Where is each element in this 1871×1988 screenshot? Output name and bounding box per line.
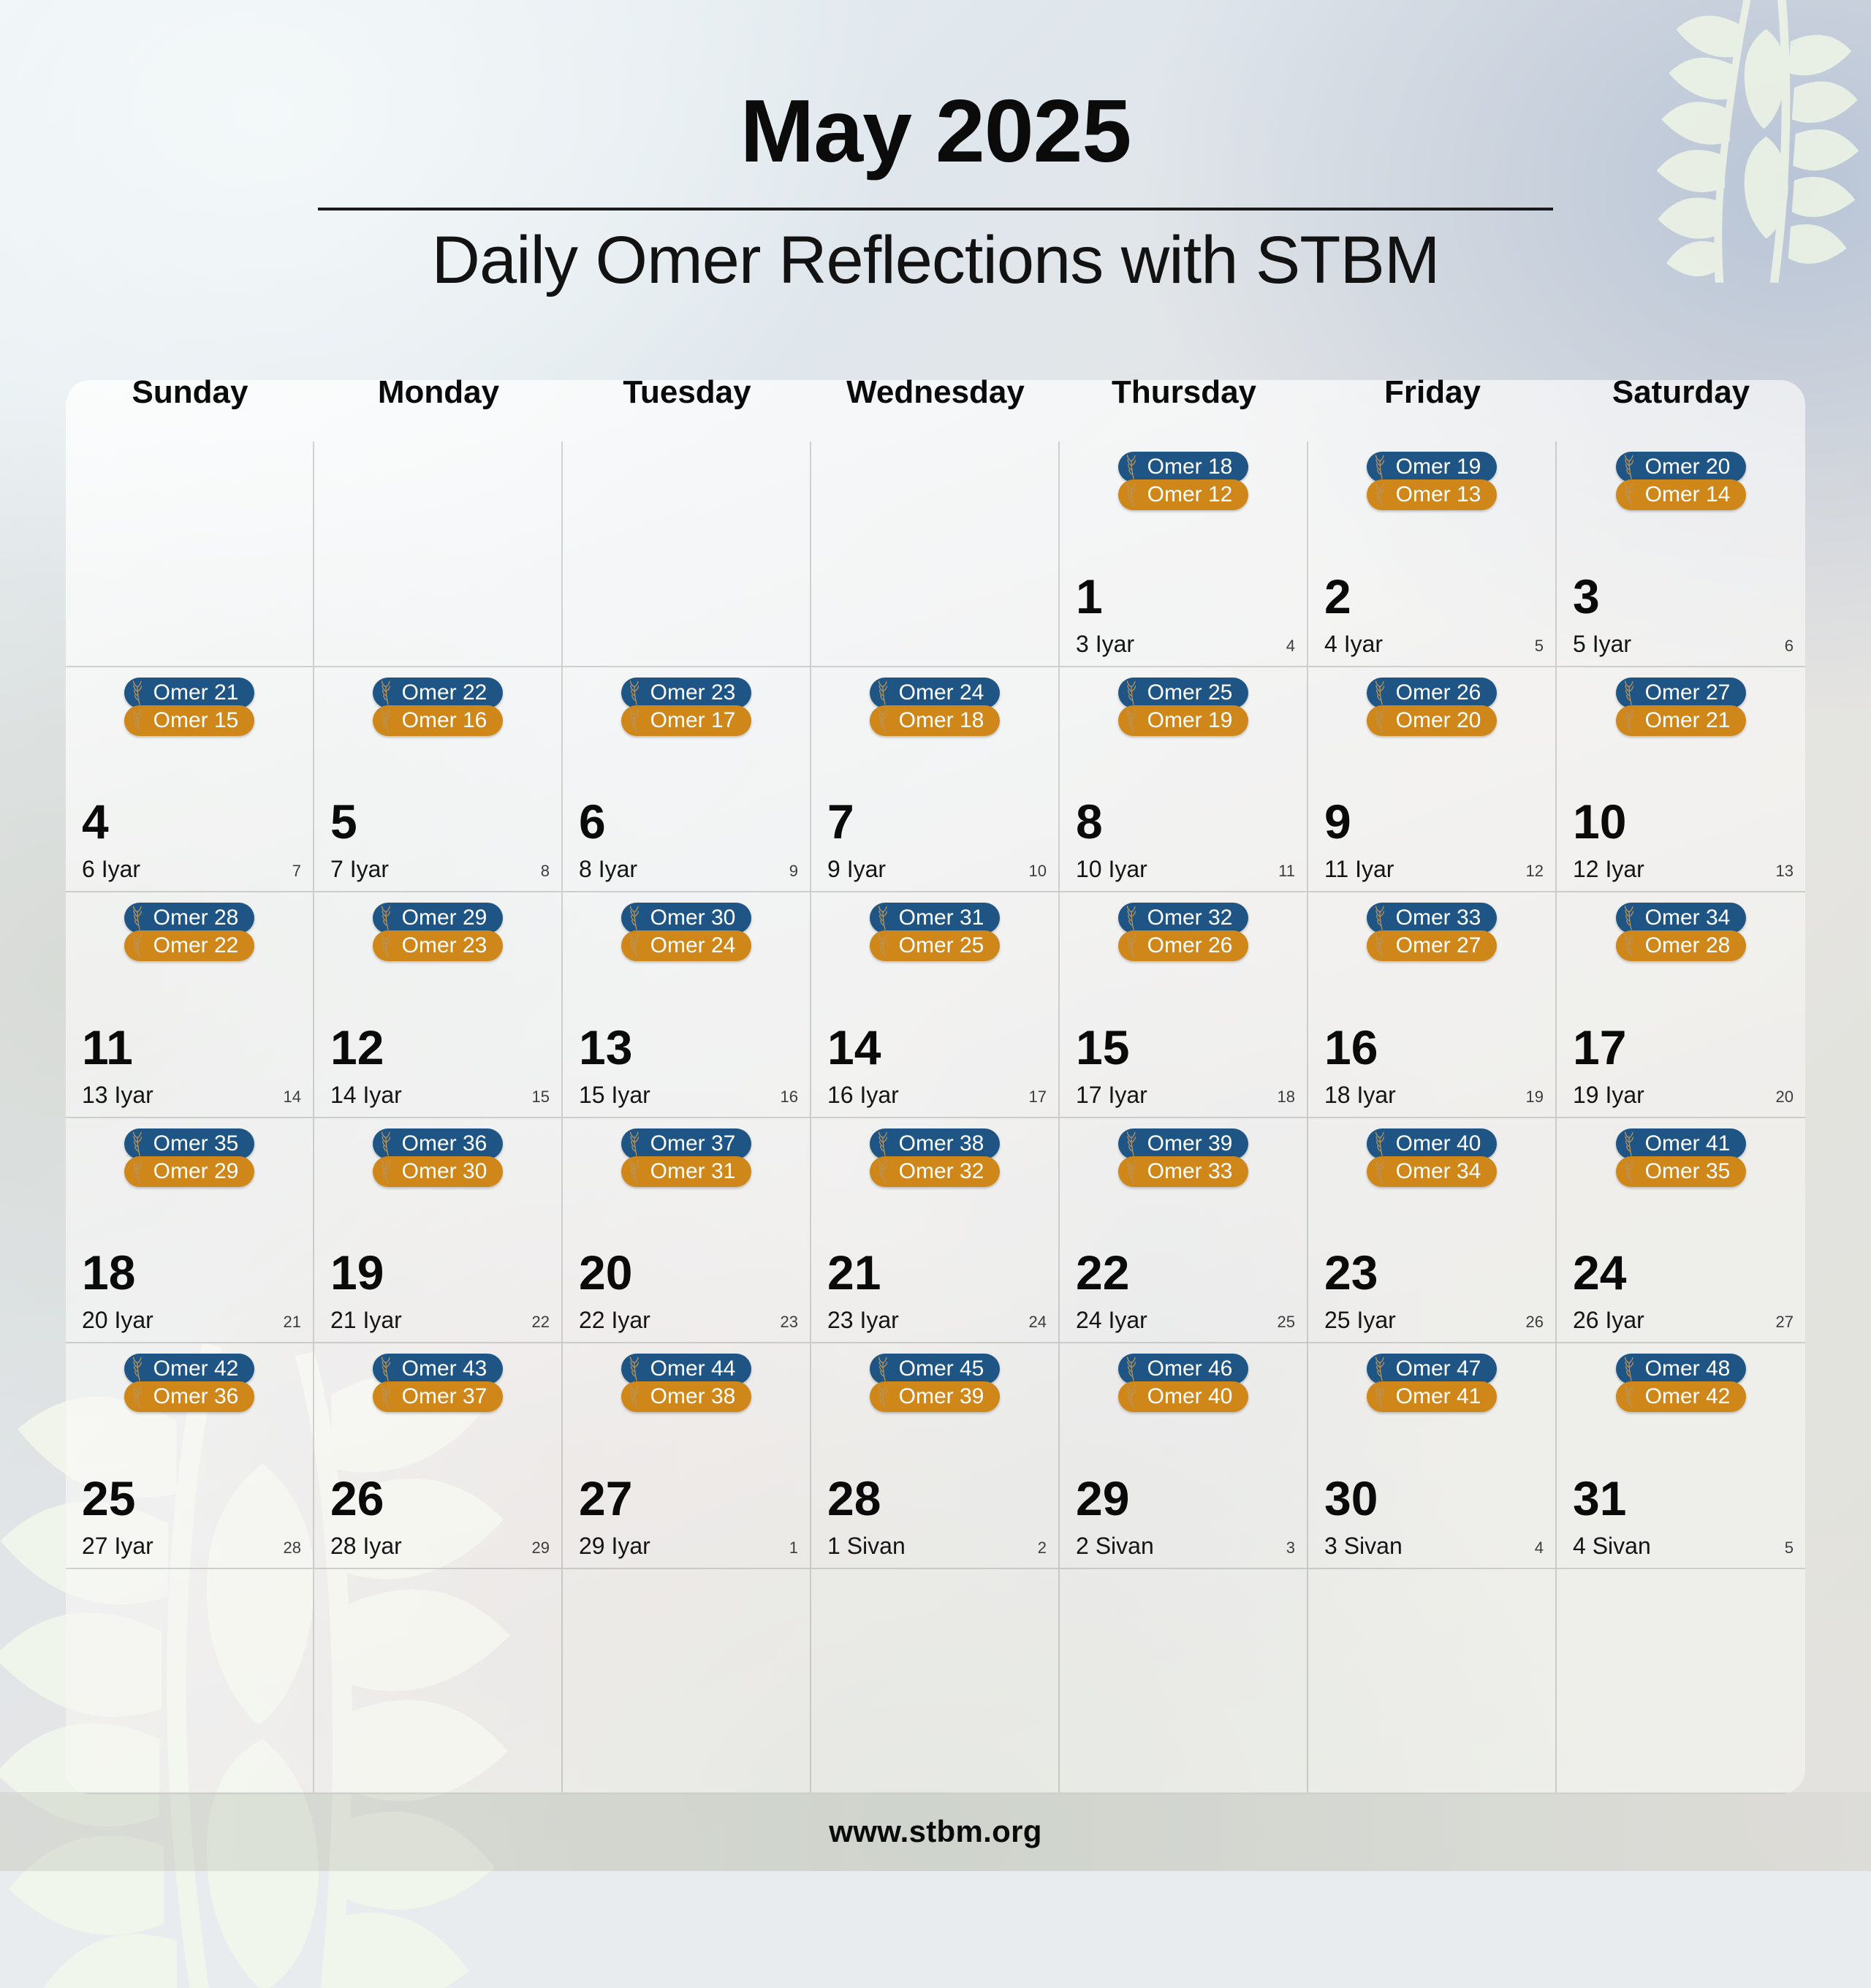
day-counter: 25: [1278, 1314, 1295, 1330]
omer-badge-blue-label: Omer 32: [1146, 907, 1233, 929]
omer-badge-orange[interactable]: Omer 26: [1118, 930, 1249, 961]
wheat-stalk-icon: [379, 1159, 398, 1184]
omer-badge-orange[interactable]: Omer 32: [870, 1156, 1001, 1187]
calendar-cell-day-17[interactable]: Omer 34Omer 281719 Iyar20: [1557, 892, 1805, 1118]
omer-badge-group: Omer 38Omer 32: [811, 1128, 1058, 1187]
page-title: May 2025: [0, 86, 1871, 175]
omer-badge-blue[interactable]: Omer 45: [870, 1354, 1001, 1384]
omer-badge-blue[interactable]: Omer 19: [1367, 452, 1498, 482]
day-counter: 15: [532, 1089, 550, 1105]
page-header: May 2025 Daily Omer Reflections with STB…: [0, 0, 1871, 297]
omer-badge-orange[interactable]: Omer 38: [621, 1381, 752, 1412]
day-number: 15: [1076, 1023, 1129, 1071]
calendar-cell-day-15[interactable]: Omer 32Omer 261517 Iyar18: [1060, 892, 1308, 1118]
day-counter: 11: [1278, 863, 1295, 879]
wheat-stalk-icon: [1622, 933, 1641, 958]
omer-badge-orange-label: Omer 32: [897, 1161, 984, 1183]
omer-badge-group: Omer 40Omer 34: [1308, 1128, 1555, 1187]
day-number: 4: [82, 797, 109, 846]
omer-badge-orange-label: Omer 18: [897, 710, 984, 732]
day-number: 2: [1324, 572, 1351, 621]
omer-badge-blue-label: Omer 25: [1146, 682, 1233, 704]
hebrew-date-label: 5 Iyar: [1573, 632, 1631, 656]
omer-badge-orange-label: Omer 31: [649, 1161, 736, 1183]
omer-badge-orange[interactable]: Omer 24: [621, 930, 752, 961]
hebrew-date-label: 8 Iyar: [579, 857, 637, 881]
day-counter: 6: [1785, 638, 1794, 654]
omer-badge-blue-label: Omer 20: [1644, 456, 1731, 478]
hebrew-date-label: 20 Iyar: [82, 1308, 153, 1332]
hebrew-date-label: 22 Iyar: [579, 1308, 650, 1332]
omer-badge-group: Omer 27Omer 21: [1557, 678, 1805, 736]
hebrew-date-label: 10 Iyar: [1076, 857, 1147, 881]
calendar-cell-day-12[interactable]: Omer 29Omer 231214 Iyar15: [314, 892, 563, 1118]
day-number: 3: [1573, 572, 1600, 621]
wheat-stalk-icon: [1373, 482, 1392, 507]
omer-badge-orange[interactable]: Omer 36: [124, 1381, 255, 1412]
omer-badge-blue[interactable]: Omer 42: [124, 1354, 255, 1384]
omer-badge-orange[interactable]: Omer 31: [621, 1156, 752, 1187]
wheat-stalk-icon: [876, 933, 895, 958]
hebrew-date-label: 4 Sivan: [1573, 1534, 1651, 1558]
omer-badge-blue-label: Omer 39: [1146, 1133, 1233, 1155]
calendar-cell-day-26[interactable]: Omer 43Omer 372628 Iyar29: [314, 1343, 563, 1569]
omer-badge-blue[interactable]: Omer 31: [870, 903, 1001, 933]
day-counter: 12: [1526, 863, 1544, 879]
omer-badge-orange[interactable]: Omer 34: [1367, 1156, 1498, 1187]
wheat-stalk-icon: [627, 906, 646, 930]
omer-badge-orange-label: Omer 37: [401, 1386, 487, 1408]
calendar-cell-day-29[interactable]: Omer 46Omer 40292 Sivan3: [1060, 1343, 1308, 1569]
omer-badge-group: Omer 45Omer 39: [811, 1354, 1058, 1412]
day-counter: 4: [1535, 1540, 1544, 1556]
omer-badge-orange-label: Omer 22: [152, 935, 239, 957]
calendar-cell-day-19[interactable]: Omer 36Omer 301921 Iyar22: [314, 1118, 563, 1344]
omer-badge-blue-label: Omer 29: [401, 907, 487, 929]
omer-badge-blue[interactable]: Omer 35: [124, 1128, 255, 1159]
wheat-stalk-icon: [1373, 708, 1392, 733]
day-number: 11: [82, 1023, 133, 1071]
calendar-cell-day-5[interactable]: Omer 22Omer 1657 Iyar8: [314, 667, 563, 893]
day-counter: 24: [1029, 1314, 1047, 1330]
footer-url: www.stbm.org: [829, 1814, 1041, 1849]
wheat-stalk-icon: [379, 680, 398, 705]
omer-badge-orange[interactable]: Omer 14: [1616, 479, 1747, 510]
omer-badge-blue-label: Omer 22: [401, 682, 487, 704]
wheat-stalk-icon: [1124, 680, 1143, 705]
omer-badge-group: Omer 32Omer 26: [1060, 903, 1307, 961]
day-counter: 4: [1286, 638, 1295, 654]
omer-badge-blue-label: Omer 28: [152, 907, 239, 929]
omer-badge-orange[interactable]: Omer 39: [870, 1381, 1001, 1412]
calendar-cell-day-21[interactable]: Omer 38Omer 322123 Iyar24: [811, 1118, 1060, 1344]
day-number: 5: [330, 797, 357, 846]
omer-badge-orange[interactable]: Omer 21: [1616, 705, 1747, 736]
wheat-stalk-icon: [627, 1357, 646, 1381]
wheat-stalk-icon: [130, 1384, 149, 1409]
omer-badge-blue-label: Omer 30: [649, 907, 736, 929]
omer-badge-orange-label: Omer 23: [401, 935, 487, 957]
hebrew-date-label: 14 Iyar: [330, 1083, 402, 1107]
omer-badge-blue[interactable]: Omer 26: [1367, 678, 1498, 708]
day-number: 31: [1573, 1474, 1626, 1522]
calendar-cell-empty: [563, 441, 811, 667]
hebrew-date-label: 29 Iyar: [579, 1534, 650, 1558]
weekday-header-row: SundayMondayTuesdayWednesdayThursdayFrid…: [66, 374, 1805, 436]
hebrew-date-label: 12 Iyar: [1573, 857, 1644, 881]
wheat-stalk-icon: [379, 1384, 398, 1409]
day-number: 8: [1076, 797, 1103, 846]
day-counter: 21: [284, 1314, 301, 1330]
hebrew-date-label: 28 Iyar: [330, 1534, 402, 1558]
omer-badge-blue[interactable]: Omer 30: [621, 903, 752, 933]
omer-badge-blue[interactable]: Omer 39: [1118, 1128, 1249, 1159]
omer-badge-blue[interactable]: Omer 37: [621, 1128, 752, 1159]
wheat-stalk-icon: [1124, 482, 1143, 507]
calendar-cell-day-2[interactable]: Omer 19Omer 1324 Iyar5: [1308, 441, 1557, 667]
omer-badge-group: Omer 48Omer 42: [1557, 1354, 1805, 1412]
omer-badge-orange-label: Omer 36: [152, 1386, 239, 1408]
omer-badge-orange-label: Omer 20: [1394, 710, 1481, 732]
wheat-stalk-icon: [379, 1131, 398, 1156]
wheat-stalk-icon: [627, 1384, 646, 1409]
day-number: 23: [1324, 1248, 1378, 1297]
hebrew-date-label: 13 Iyar: [82, 1083, 153, 1107]
omer-badge-blue-label: Omer 44: [649, 1358, 736, 1380]
omer-badge-blue-label: Omer 33: [1394, 907, 1481, 929]
day-counter: 8: [541, 863, 550, 879]
day-counter: 10: [1029, 863, 1047, 879]
day-number: 25: [82, 1474, 135, 1522]
omer-badge-blue-label: Omer 23: [649, 682, 736, 704]
wheat-stalk-icon: [1622, 482, 1641, 507]
omer-badge-blue[interactable]: Omer 38: [870, 1128, 1001, 1159]
wheat-stalk-icon: [379, 708, 398, 733]
calendar-cell-empty: [811, 1569, 1060, 1795]
omer-badge-group: Omer 39Omer 33: [1060, 1128, 1307, 1187]
omer-badge-group: Omer 18Omer 12: [1060, 452, 1307, 510]
omer-badge-orange[interactable]: Omer 37: [373, 1381, 504, 1412]
omer-badge-group: Omer 41Omer 35: [1557, 1128, 1805, 1187]
omer-badge-group: Omer 35Omer 29: [66, 1128, 313, 1187]
calendar-cell-day-8[interactable]: Omer 25Omer 19810 Iyar11: [1060, 667, 1308, 893]
omer-badge-orange[interactable]: Omer 40: [1118, 1381, 1249, 1412]
day-counter: 16: [781, 1089, 798, 1105]
omer-badge-blue[interactable]: Omer 21: [124, 678, 255, 708]
omer-badge-orange[interactable]: Omer 33: [1118, 1156, 1249, 1187]
omer-badge-orange[interactable]: Omer 35: [1616, 1156, 1747, 1187]
day-counter: 2: [1038, 1540, 1047, 1556]
wheat-stalk-icon: [876, 708, 895, 733]
hebrew-date-label: 11 Iyar: [1324, 857, 1394, 881]
hebrew-date-label: 7 Iyar: [330, 857, 389, 881]
wheat-stalk-icon: [627, 933, 646, 958]
day-number: 21: [827, 1248, 881, 1297]
omer-badge-group: Omer 28Omer 22: [66, 903, 313, 961]
calendar-cell-day-28[interactable]: Omer 45Omer 39281 Sivan2: [811, 1343, 1060, 1569]
hebrew-date-label: 4 Iyar: [1324, 632, 1383, 656]
calendar-cell-day-30[interactable]: Omer 47Omer 41303 Sivan4: [1308, 1343, 1557, 1569]
wheat-stalk-icon: [1622, 906, 1641, 930]
calendar-cell-empty: [1308, 1569, 1557, 1795]
wheat-stalk-icon: [1124, 708, 1143, 733]
omer-badge-blue-label: Omer 31: [897, 907, 984, 929]
day-counter: 28: [284, 1540, 301, 1556]
omer-badge-orange[interactable]: Omer 29: [124, 1156, 255, 1187]
omer-badge-blue-label: Omer 26: [1394, 682, 1481, 704]
calendar-cell-day-3[interactable]: Omer 20Omer 1435 Iyar6: [1557, 441, 1805, 667]
wheat-stalk-icon: [876, 1159, 895, 1184]
omer-badge-blue[interactable]: Omer 28: [124, 903, 255, 933]
omer-badge-blue-label: Omer 27: [1644, 682, 1731, 704]
omer-badge-orange[interactable]: Omer 18: [870, 705, 1001, 736]
wheat-stalk-icon: [876, 680, 895, 705]
calendar-cell-day-7[interactable]: Omer 24Omer 1879 Iyar10: [811, 667, 1060, 893]
calendar-cell-empty: [66, 441, 314, 667]
wheat-stalk-icon: [1124, 933, 1143, 958]
day-number: 19: [330, 1248, 384, 1297]
omer-badge-orange-label: Omer 16: [401, 710, 487, 732]
hebrew-date-label: 27 Iyar: [82, 1534, 153, 1558]
wheat-stalk-icon: [876, 1357, 895, 1381]
omer-badge-orange[interactable]: Omer 19: [1118, 705, 1249, 736]
wheat-stalk-icon: [876, 906, 895, 930]
omer-badge-orange-label: Omer 25: [897, 935, 984, 957]
omer-badge-orange-label: Omer 34: [1394, 1161, 1481, 1183]
omer-badge-orange[interactable]: Omer 25: [870, 930, 1001, 961]
wheat-stalk-icon: [1622, 1384, 1641, 1409]
hebrew-date-label: 25 Iyar: [1324, 1308, 1396, 1332]
wheat-stalk-icon: [379, 906, 398, 930]
omer-badge-group: Omer 26Omer 20: [1308, 678, 1555, 736]
day-number: 12: [330, 1023, 384, 1071]
wheat-stalk-icon: [1622, 680, 1641, 705]
omer-badge-blue[interactable]: Omer 41: [1616, 1128, 1747, 1159]
day-counter: 23: [781, 1314, 798, 1330]
calendar-cell-day-24[interactable]: Omer 41Omer 352426 Iyar27: [1557, 1118, 1805, 1344]
calendar-cell-day-4[interactable]: Omer 21Omer 1546 Iyar7: [66, 667, 314, 893]
weekday-header-saturday: Saturday: [1557, 374, 1805, 436]
omer-badge-orange[interactable]: Omer 27: [1367, 930, 1498, 961]
omer-badge-group: Omer 37Omer 31: [563, 1128, 810, 1187]
omer-badge-orange[interactable]: Omer 15: [124, 705, 255, 736]
calendar-cell-empty: [1060, 1569, 1308, 1795]
omer-badge-blue[interactable]: Omer 36: [373, 1128, 504, 1159]
wheat-stalk-icon: [1622, 1357, 1641, 1381]
omer-badge-group: Omer 46Omer 40: [1060, 1354, 1307, 1412]
omer-badge-orange-label: Omer 39: [897, 1386, 984, 1408]
day-number: 6: [579, 797, 606, 846]
omer-badge-orange-label: Omer 14: [1644, 484, 1731, 506]
wheat-stalk-icon: [1622, 1131, 1641, 1156]
wheat-stalk-icon: [130, 708, 149, 733]
wheat-stalk-icon: [1373, 680, 1392, 705]
omer-badge-orange[interactable]: Omer 23: [373, 930, 504, 961]
calendar-cell-day-27[interactable]: Omer 44Omer 382729 Iyar1: [563, 1343, 811, 1569]
wheat-stalk-icon: [1622, 1159, 1641, 1184]
wheat-stalk-icon: [1373, 1384, 1392, 1409]
day-counter: 5: [1785, 1540, 1794, 1556]
omer-badge-orange[interactable]: Omer 20: [1367, 705, 1498, 736]
omer-badge-blue[interactable]: Omer 20: [1616, 452, 1747, 482]
wheat-stalk-icon: [1124, 1357, 1143, 1381]
hebrew-date-label: 3 Iyar: [1076, 632, 1134, 656]
omer-badge-orange-label: Omer 15: [152, 710, 239, 732]
wheat-stalk-icon: [379, 933, 398, 958]
day-counter: 13: [1776, 863, 1794, 879]
omer-badge-blue-label: Omer 42: [152, 1358, 239, 1380]
omer-badge-orange-label: Omer 30: [401, 1161, 487, 1183]
day-counter: 29: [532, 1540, 550, 1556]
omer-badge-orange-label: Omer 28: [1644, 935, 1731, 957]
day-number: 10: [1573, 797, 1626, 846]
calendar-cell-day-16[interactable]: Omer 33Omer 271618 Iyar19: [1308, 892, 1557, 1118]
omer-badge-blue[interactable]: Omer 47: [1367, 1354, 1498, 1384]
calendar-cell-empty: [563, 1569, 811, 1795]
omer-badge-orange[interactable]: Omer 41: [1367, 1381, 1498, 1412]
day-number: 24: [1573, 1248, 1626, 1297]
omer-badge-blue-label: Omer 45: [897, 1358, 984, 1380]
omer-badge-blue[interactable]: Omer 44: [621, 1354, 752, 1384]
omer-badge-blue-label: Omer 24: [897, 682, 984, 704]
day-counter: 20: [1776, 1089, 1794, 1105]
omer-badge-orange[interactable]: Omer 28: [1616, 930, 1747, 961]
calendar-cell-day-13[interactable]: Omer 30Omer 241315 Iyar16: [563, 892, 811, 1118]
day-counter: 17: [1029, 1089, 1047, 1105]
omer-badge-blue[interactable]: Omer 43: [373, 1354, 504, 1384]
omer-badge-orange[interactable]: Omer 16: [373, 705, 504, 736]
omer-badge-blue[interactable]: Omer 22: [373, 678, 504, 708]
calendar-cell-empty: [314, 1569, 563, 1795]
day-counter: 9: [789, 863, 798, 879]
wheat-stalk-icon: [130, 1131, 149, 1156]
day-number: 14: [827, 1023, 881, 1071]
day-number: 20: [579, 1248, 632, 1297]
wheat-stalk-icon: [627, 1131, 646, 1156]
omer-badge-blue[interactable]: Omer 40: [1367, 1128, 1498, 1159]
calendar-cell-day-18[interactable]: Omer 35Omer 291820 Iyar21: [66, 1118, 314, 1344]
omer-badge-orange[interactable]: Omer 42: [1616, 1381, 1747, 1412]
calendar-cell-day-6[interactable]: Omer 23Omer 1768 Iyar9: [563, 667, 811, 893]
omer-badge-orange-label: Omer 21: [1644, 710, 1731, 732]
day-number: 26: [330, 1474, 384, 1522]
weekday-header-tuesday: Tuesday: [563, 374, 811, 436]
wheat-stalk-icon: [1373, 1159, 1392, 1184]
calendar-cell-day-1[interactable]: Omer 18Omer 1213 Iyar4: [1060, 441, 1308, 667]
calendar-cell-day-31[interactable]: Omer 48Omer 42314 Sivan5: [1557, 1343, 1805, 1569]
hebrew-date-label: 9 Iyar: [827, 857, 886, 881]
day-counter: 18: [1278, 1089, 1295, 1105]
omer-badge-blue[interactable]: Omer 27: [1616, 678, 1747, 708]
omer-badge-blue[interactable]: Omer 33: [1367, 903, 1498, 933]
calendar-cell-day-23[interactable]: Omer 40Omer 342325 Iyar26: [1308, 1118, 1557, 1344]
wheat-stalk-icon: [1373, 455, 1392, 479]
omer-badge-blue[interactable]: Omer 29: [373, 903, 504, 933]
omer-badge-group: Omer 29Omer 23: [314, 903, 561, 961]
hebrew-date-label: 3 Sivan: [1324, 1534, 1403, 1558]
day-number: 27: [579, 1474, 632, 1522]
calendar-cell-day-10[interactable]: Omer 27Omer 211012 Iyar13: [1557, 667, 1805, 893]
omer-badge-blue-label: Omer 21: [152, 682, 239, 704]
omer-badge-orange-label: Omer 12: [1146, 484, 1233, 506]
omer-badge-group: Omer 22Omer 16: [314, 678, 561, 736]
omer-badge-group: Omer 34Omer 28: [1557, 903, 1805, 961]
calendar-cell-day-20[interactable]: Omer 37Omer 312022 Iyar23: [563, 1118, 811, 1344]
wheat-stalk-icon: [130, 933, 149, 958]
wheat-stalk-icon: [1622, 455, 1641, 479]
omer-badge-blue-label: Omer 48: [1644, 1358, 1731, 1380]
calendar-cell-empty: [314, 441, 563, 667]
calendar-cell-day-9[interactable]: Omer 26Omer 20911 Iyar12: [1308, 667, 1557, 893]
wheat-stalk-icon: [1373, 933, 1392, 958]
omer-badge-blue[interactable]: Omer 48: [1616, 1354, 1747, 1384]
weekday-header-friday: Friday: [1308, 374, 1557, 436]
title-divider: [318, 208, 1553, 210]
day-counter: 1: [789, 1540, 798, 1556]
wheat-stalk-icon: [876, 1131, 895, 1156]
wheat-stalk-icon: [627, 708, 646, 733]
omer-badge-blue-label: Omer 43: [401, 1358, 487, 1380]
omer-badge-orange[interactable]: Omer 17: [621, 705, 752, 736]
omer-badge-orange[interactable]: Omer 12: [1118, 479, 1249, 510]
omer-badge-blue[interactable]: Omer 23: [621, 678, 752, 708]
omer-badge-blue[interactable]: Omer 32: [1118, 903, 1249, 933]
omer-badge-blue[interactable]: Omer 34: [1616, 903, 1747, 933]
calendar-cell-day-22[interactable]: Omer 39Omer 332224 Iyar25: [1060, 1118, 1308, 1344]
hebrew-date-label: 15 Iyar: [579, 1083, 650, 1107]
wheat-stalk-icon: [130, 906, 149, 930]
hebrew-date-label: 17 Iyar: [1076, 1083, 1147, 1107]
omer-badge-blue-label: Omer 41: [1644, 1133, 1731, 1155]
hebrew-date-label: 6 Iyar: [82, 857, 140, 881]
omer-badge-group: Omer 23Omer 17: [563, 678, 810, 736]
day-counter: 22: [532, 1314, 550, 1330]
hebrew-date-label: 16 Iyar: [827, 1083, 899, 1107]
omer-badge-orange[interactable]: Omer 30: [373, 1156, 504, 1187]
omer-badge-orange-label: Omer 26: [1146, 935, 1233, 957]
day-number: 30: [1324, 1474, 1378, 1522]
calendar-cell-day-11[interactable]: Omer 28Omer 221113 Iyar14: [66, 892, 314, 1118]
calendar-cell-day-25[interactable]: Omer 42Omer 362527 Iyar28: [66, 1343, 314, 1569]
wheat-stalk-icon: [1373, 1357, 1392, 1381]
omer-badge-blue[interactable]: Omer 25: [1118, 678, 1249, 708]
calendar-cell-day-14[interactable]: Omer 31Omer 251416 Iyar17: [811, 892, 1060, 1118]
weekday-header-monday: Monday: [314, 374, 563, 436]
omer-badge-orange-label: Omer 41: [1394, 1386, 1481, 1408]
day-counter: 26: [1526, 1314, 1544, 1330]
omer-badge-group: Omer 47Omer 41: [1308, 1354, 1555, 1412]
omer-badge-orange[interactable]: Omer 22: [124, 930, 255, 961]
omer-badge-group: Omer 20Omer 14: [1557, 452, 1805, 510]
day-number: 29: [1076, 1474, 1129, 1522]
omer-badge-orange-label: Omer 29: [152, 1161, 239, 1183]
weekday-header-wednesday: Wednesday: [811, 374, 1060, 436]
omer-badge-group: Omer 42Omer 36: [66, 1354, 313, 1412]
wheat-stalk-icon: [1124, 1384, 1143, 1409]
omer-badge-blue[interactable]: Omer 46: [1118, 1354, 1249, 1384]
day-counter: 14: [284, 1089, 301, 1105]
day-counter: 27: [1776, 1314, 1794, 1330]
omer-badge-blue[interactable]: Omer 18: [1118, 452, 1249, 482]
wheat-stalk-icon: [130, 1357, 149, 1381]
hebrew-date-label: 19 Iyar: [1573, 1083, 1644, 1107]
omer-badge-orange-label: Omer 13: [1394, 484, 1481, 506]
wheat-stalk-icon: [1124, 455, 1143, 479]
omer-badge-orange[interactable]: Omer 13: [1367, 479, 1498, 510]
hebrew-date-label: 21 Iyar: [330, 1308, 402, 1332]
omer-badge-blue[interactable]: Omer 24: [870, 678, 1001, 708]
day-counter: 19: [1526, 1089, 1544, 1105]
